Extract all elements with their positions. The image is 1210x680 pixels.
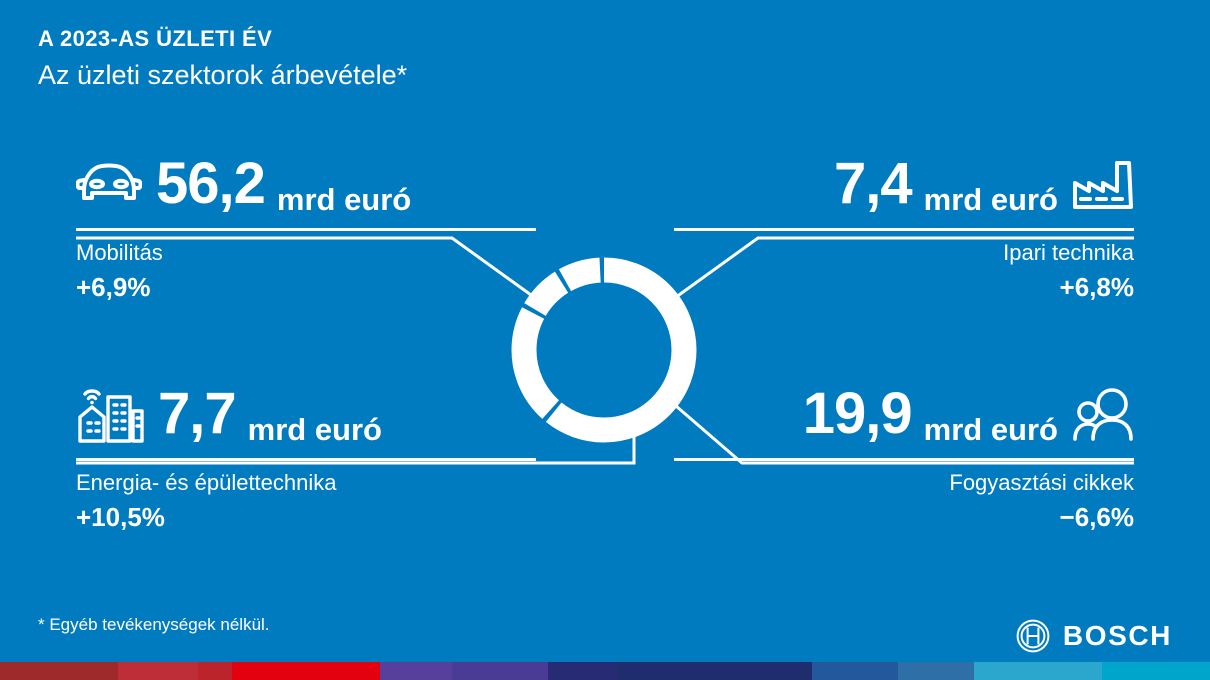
factory-icon <box>1072 157 1134 211</box>
band-navy-light <box>548 662 618 680</box>
sector-card-mobility: 56,2 mrd euró Mobilitás +6,9% <box>76 148 536 305</box>
sector-value-row: 19,9 mrd euró <box>674 378 1134 450</box>
sector-divider <box>674 228 1134 231</box>
sector-card-industrial-technology: 7,4 mrd euró Ipari technika +6,8% <box>674 148 1134 305</box>
sector-labels: Energia- és épülettechnika +10,5% <box>76 468 536 535</box>
sector-unit: mrd euró <box>924 414 1058 450</box>
sector-name: Ipari technika <box>674 238 1134 268</box>
sector-value: 19,9 <box>803 385 912 443</box>
band-red-bright <box>232 662 380 680</box>
band-dark-red <box>0 662 118 680</box>
sector-card-energy-and-building-technology: 7,7 mrd euró Energia- és épülettechnika … <box>76 378 536 535</box>
band-red-medium <box>118 662 198 680</box>
sector-value-row: 7,7 mrd euró <box>76 378 536 450</box>
sector-divider <box>76 458 536 461</box>
sector-change: +10,5% <box>76 500 536 535</box>
band-red-deep <box>198 662 232 680</box>
band-light-cyan <box>974 662 1102 680</box>
sector-change: +6,8% <box>674 270 1134 305</box>
sector-labels: Fogyasztási cikkek −6,6% <box>674 468 1134 535</box>
sector-value-row: 7,4 mrd euró <box>674 148 1134 220</box>
footnote: * Egyéb tevékenységek nélkül. <box>38 615 270 635</box>
band-navy <box>618 662 812 680</box>
sector-labels: Ipari technika +6,8% <box>674 238 1134 305</box>
sector-unit: mrd euró <box>277 184 411 220</box>
sector-value: 56,2 <box>156 155 265 213</box>
sector-value-row: 56,2 mrd euró <box>76 148 536 220</box>
sector-divider <box>674 458 1134 461</box>
sector-divider <box>76 228 536 231</box>
sector-labels: Mobilitás +6,9% <box>76 238 536 305</box>
sector-card-consumer-goods: 19,9 mrd euró Fogyasztási cikkek −6,6% <box>674 378 1134 535</box>
header: A 2023-AS ÜZLETI ÉV Az üzleti szektorok … <box>38 26 407 93</box>
infographic-root: A 2023-AS ÜZLETI ÉV Az üzleti szektorok … <box>0 0 1210 680</box>
band-purple <box>452 662 548 680</box>
sector-unit: mrd euró <box>248 414 382 450</box>
band-cyan <box>1102 662 1210 680</box>
bosch-armature-icon <box>1016 619 1050 653</box>
sector-change: −6,6% <box>674 500 1134 535</box>
headline-kicker: A 2023-AS ÜZLETI ÉV <box>38 26 407 52</box>
sector-name: Energia- és épülettechnika <box>76 468 536 498</box>
revenue-donut-chart <box>511 257 697 443</box>
band-blue <box>812 662 898 680</box>
car-icon <box>76 158 142 210</box>
sector-unit: mrd euró <box>924 184 1058 220</box>
sector-value: 7,7 <box>158 385 236 443</box>
sector-change: +6,9% <box>76 270 536 305</box>
sector-name: Fogyasztási cikkek <box>674 468 1134 498</box>
sector-value: 7,4 <box>834 155 912 213</box>
smart-building-icon <box>76 383 144 445</box>
band-steel-blue <box>898 662 974 680</box>
bosch-wordmark: BOSCH <box>1063 622 1172 650</box>
supergraphic-bands <box>0 662 1210 680</box>
sector-name: Mobilitás <box>76 238 536 268</box>
supergraphic-stripe <box>0 662 1210 680</box>
band-purple-light <box>380 662 452 680</box>
bosch-logo: BOSCH <box>1016 619 1172 653</box>
people-icon <box>1072 387 1134 441</box>
page-title: Az üzleti szektorok árbevétele* <box>38 58 407 93</box>
